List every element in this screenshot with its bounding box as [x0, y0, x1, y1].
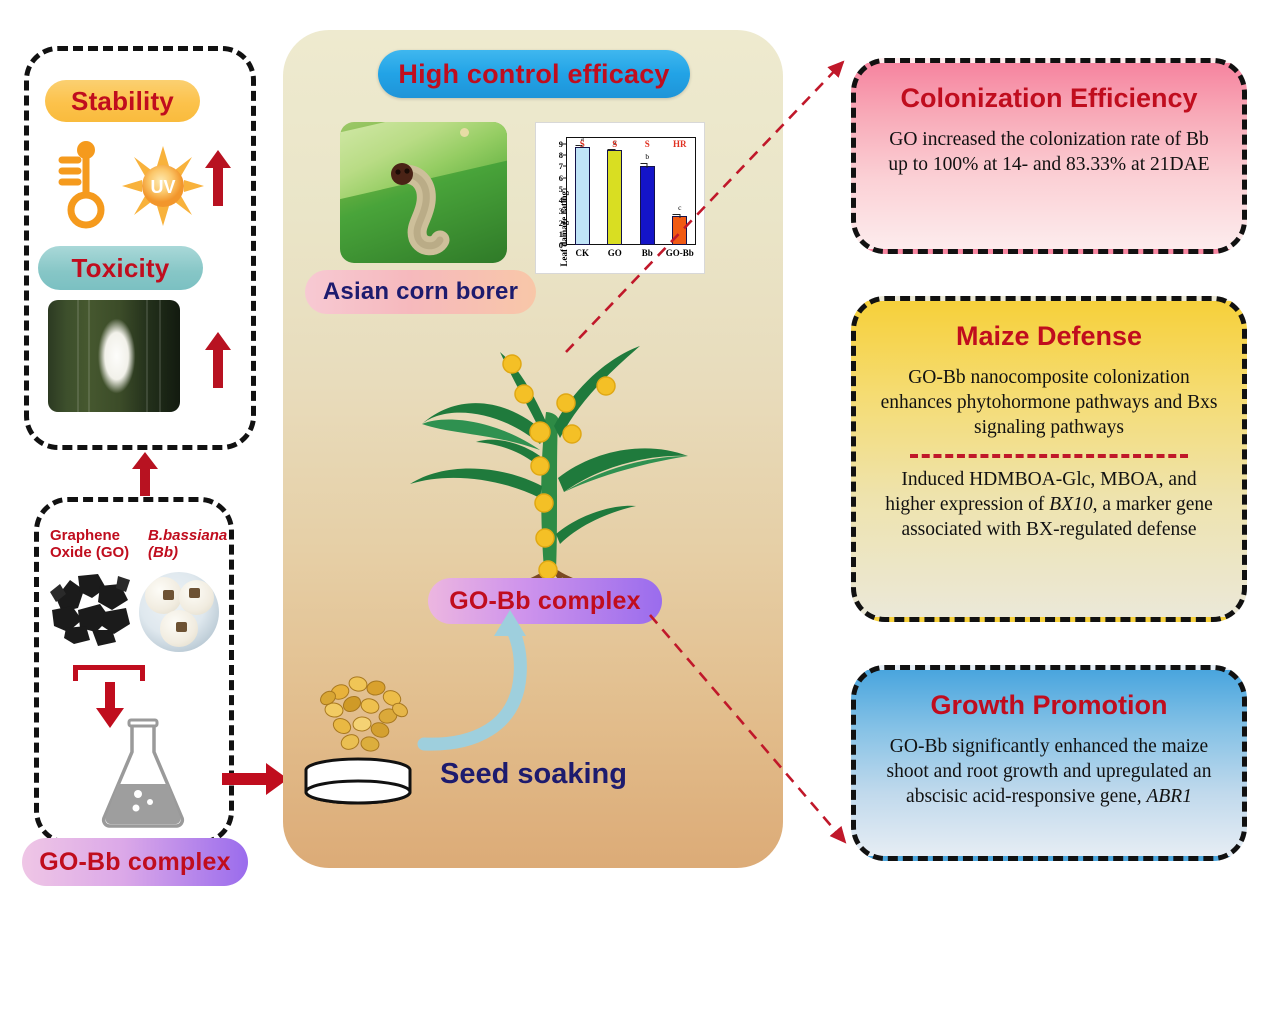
bbassiana-label: B.bassiana (Bb) — [148, 528, 227, 562]
chart-y-tickmark — [563, 211, 566, 212]
colonization-body: GO increased the colonization rate of Bb… — [856, 128, 1242, 178]
chart-significance-letter: c — [678, 203, 681, 212]
chart-bar — [607, 150, 622, 245]
chart-y-tickmark — [563, 188, 566, 189]
chart-x-tick: Bb — [642, 248, 653, 258]
maize-seedling-illustration — [388, 338, 718, 606]
maize-defense-panel: Maize Defense GO-Bb nanocomposite coloni… — [851, 296, 1247, 622]
chart-top-label: HR — [673, 139, 687, 149]
maize-defense-body-bottom: Induced HDMBOA-Glc, MBOA, and higher exp… — [856, 468, 1242, 543]
growth-gene-abr1: ABR1 — [1146, 786, 1191, 807]
chart-top-label: S — [580, 139, 585, 149]
chart-bar — [640, 166, 655, 245]
chart-y-tickmark — [563, 222, 566, 223]
defense-gene-bx10: BX10 — [1049, 494, 1092, 515]
chart-y-tickmark — [563, 233, 566, 234]
colonization-title: Colonization Efficiency — [856, 83, 1242, 114]
high-control-efficacy-banner: High control efficacy — [378, 50, 690, 98]
panel-link-up-arrow-icon — [132, 452, 158, 496]
gobb-complex-badge-left: GO-Bb complex — [22, 838, 248, 886]
maize-seeds-pile — [320, 670, 420, 760]
erlenmeyer-flask — [96, 718, 190, 830]
chart-y-tickmark — [563, 166, 566, 167]
maize-defense-divider — [910, 454, 1188, 458]
chart-top-label: S — [612, 139, 617, 149]
growth-promotion-panel: Growth Promotion GO-Bb significantly enh… — [851, 665, 1247, 861]
stability-up-arrow-icon — [205, 150, 231, 206]
materials-to-center-arrow-icon — [222, 762, 288, 796]
chart-y-tickmark — [563, 177, 566, 178]
combine-bracket — [73, 665, 145, 681]
toxicity-up-arrow-icon — [205, 332, 231, 388]
curved-uptake-arrow — [420, 610, 550, 760]
chart-top-label: S — [645, 139, 650, 149]
leaf-damage-bar-chart: Leaf damage rating 0123456789aCKSaGOSbBb… — [535, 122, 705, 274]
seed-soaking-label: Seed soaking — [440, 758, 627, 791]
beauveria-petri-dish — [139, 572, 219, 652]
graphene-oxide-powder — [48, 570, 134, 648]
thermometer-icon — [52, 138, 114, 230]
asian-corn-borer-badge: Asian corn borer — [305, 270, 536, 314]
maize-defense-body-top: GO-Bb nanocomposite colonization enhance… — [856, 366, 1242, 441]
chart-x-tick: CK — [576, 248, 590, 258]
chart-error-cap — [673, 214, 680, 215]
uv-text: UV — [150, 177, 175, 197]
chart-y-tickmark — [563, 245, 566, 246]
chart-bar — [672, 216, 687, 245]
chart-y-tickmark — [563, 200, 566, 201]
chart-y-tickmark — [563, 143, 566, 144]
growth-promotion-body: GO-Bb significantly enhanced the maize s… — [856, 735, 1242, 810]
stability-badge: Stability — [45, 80, 200, 122]
soaking-dish — [303, 757, 413, 809]
maize-defense-title: Maize Defense — [856, 321, 1242, 352]
corn-borer-larva-photo — [340, 122, 507, 263]
chart-error-cap — [640, 163, 647, 164]
toxicity-badge: Toxicity — [38, 246, 203, 290]
chart-x-tick: GO — [608, 248, 622, 258]
growth-promotion-title: Growth Promotion — [856, 690, 1242, 721]
chart-bar — [575, 147, 590, 245]
colonization-efficiency-panel: Colonization Efficiency GO increased the… — [851, 58, 1247, 254]
graphene-oxide-label: Graphene Oxide (GO) — [50, 528, 129, 562]
uv-sun-icon: UV — [122, 146, 204, 226]
chart-x-tick: GO-Bb — [666, 248, 694, 258]
chart-significance-letter: b — [645, 152, 649, 161]
fungus-infected-leaf-photo — [48, 300, 180, 412]
chart-y-tickmark — [563, 155, 566, 156]
